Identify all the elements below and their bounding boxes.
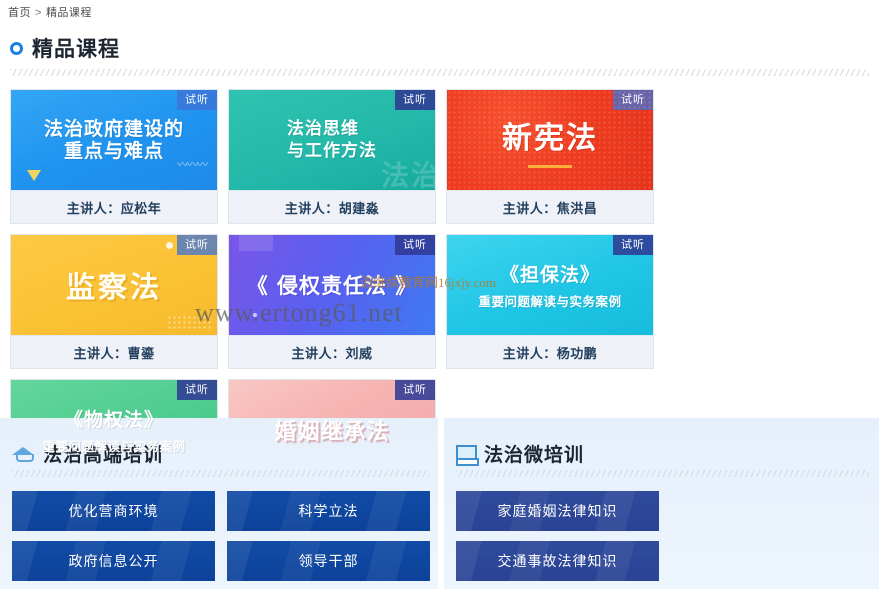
trial-badge[interactable]: 试听: [177, 235, 217, 255]
course-title-line2: 与工作方法: [287, 140, 377, 162]
course-page: 首页>精品课程 精品课程 〰〰〰 法治政府建设的 重点与难点 试听 主讲人：应松…: [0, 0, 879, 589]
breadcrumb: 首页>精品课程: [8, 4, 92, 20]
ring-circle-icon: [10, 42, 23, 55]
course-title: 法治思维: [287, 118, 377, 140]
breadcrumb-separator: >: [35, 7, 42, 19]
panel-title-block: 法治微培训: [456, 440, 584, 467]
ghost-text-decor: 法治: [381, 154, 435, 190]
dot-decor-icon: [253, 313, 257, 317]
page-title: 精品课程: [32, 38, 120, 59]
course-thumbnail: 新宪法 试听: [447, 90, 653, 190]
course-thumbnail: 监察法 试听: [11, 235, 217, 335]
course-thumbnail: 法治 法治思维 与工作方法 试听: [229, 90, 435, 190]
trial-badge[interactable]: 试听: [395, 90, 435, 110]
course-instructor: 主讲人：杨功鹏: [447, 335, 653, 368]
course-card[interactable]: 〰〰〰 法治政府建设的 重点与难点 试听 主讲人：应松年: [10, 89, 218, 224]
trial-badge[interactable]: 试听: [395, 380, 435, 400]
training-topic-button[interactable]: 家庭婚姻法律知识: [456, 491, 659, 531]
panel-divider: [456, 470, 869, 477]
graduation-cap-icon: [12, 446, 34, 462]
title-divider: [10, 69, 869, 76]
trial-badge[interactable]: 试听: [613, 235, 653, 255]
course-card[interactable]: 新宪法 试听 主讲人：焦洪昌: [446, 89, 654, 224]
course-thumbnail: 《 侵权责任法 》 试听: [229, 235, 435, 335]
panel-micro-training: 法治微培训 家庭婚姻法律知识 交通事故法律知识 劳动争议法律知识 刑事治安法律知…: [444, 418, 879, 589]
course-title: 《担保法》: [500, 260, 600, 287]
trial-badge[interactable]: 试听: [177, 90, 217, 110]
breadcrumb-current: 精品课程: [46, 7, 92, 19]
trial-badge[interactable]: 试听: [613, 90, 653, 110]
course-subtitle: 重要问题解读与实务案例: [478, 291, 621, 310]
course-title: 《物权法》: [64, 405, 164, 432]
course-instructor: 主讲人：焦洪昌: [447, 190, 653, 223]
block-decor-icon: [239, 235, 273, 251]
course-title: 监察法: [66, 264, 162, 306]
book-icon: [456, 445, 475, 463]
panel-button-grid: 优化营商环境 科学立法 政府信息公开 领导干部: [12, 491, 430, 581]
course-instructor: 主讲人：刘威: [229, 335, 435, 368]
dots-decor-icon: [167, 315, 213, 329]
training-topic-button[interactable]: 科学立法: [227, 491, 430, 531]
course-subtitle: 重要问题解读与实务案例: [42, 436, 185, 455]
button-label: 政府信息公开: [69, 551, 159, 571]
button-label: 交通事故法律知识: [498, 551, 618, 571]
course-card[interactable]: 法治 法治思维 与工作方法 试听 主讲人：胡建淼: [228, 89, 436, 224]
panel-divider: [12, 470, 430, 477]
course-title-line2: 重点与难点: [64, 140, 164, 162]
panel-button-grid: 家庭婚姻法律知识 交通事故法律知识 劳动争议法律知识 刑事治安法律知识: [456, 491, 869, 589]
panel-title: 法治微培训: [484, 440, 584, 467]
button-label: 领导干部: [299, 551, 359, 571]
course-title: 婚姻继承法: [274, 414, 389, 446]
course-instructor: 主讲人：胡建淼: [229, 190, 435, 223]
training-topic-button[interactable]: 优化营商环境: [12, 491, 215, 531]
training-topic-button[interactable]: 领导干部: [227, 541, 430, 581]
course-instructor: 主讲人：曹鎏: [11, 335, 217, 368]
button-label: 家庭婚姻法律知识: [498, 501, 618, 521]
dot-decor-icon: [166, 242, 173, 249]
course-title: 新宪法: [502, 113, 598, 157]
training-topic-button[interactable]: 交通事故法律知识: [456, 541, 659, 581]
training-topic-button[interactable]: 政府信息公开: [12, 541, 215, 581]
trial-badge[interactable]: 试听: [395, 235, 435, 255]
course-thumbnail: 〰〰〰 法治政府建设的 重点与难点 试听: [11, 90, 217, 190]
course-title: 法治政府建设的: [44, 118, 184, 140]
course-instructor: 主讲人：应松年: [11, 190, 217, 223]
trial-badge[interactable]: 试听: [177, 380, 217, 400]
course-thumbnail: 《担保法》 重要问题解读与实务案例 试听: [447, 235, 653, 335]
wave-decor-icon: 〰〰〰: [177, 156, 207, 172]
button-label: 科学立法: [299, 501, 359, 521]
course-card[interactable]: 《担保法》 重要问题解读与实务案例 试听 主讲人：杨功鹏: [446, 234, 654, 369]
page-title-block: 精品课程: [10, 38, 120, 59]
breadcrumb-home[interactable]: 首页: [8, 7, 31, 19]
course-card[interactable]: 《 侵权责任法 》 试听 主讲人：刘威: [228, 234, 436, 369]
title-underline-decor: [528, 165, 572, 168]
triangle-decor-icon: [27, 170, 41, 181]
button-label: 优化营商环境: [69, 501, 159, 521]
course-title: 《 侵权责任法 》: [247, 270, 418, 300]
course-card[interactable]: 监察法 试听 主讲人：曹鎏: [10, 234, 218, 369]
